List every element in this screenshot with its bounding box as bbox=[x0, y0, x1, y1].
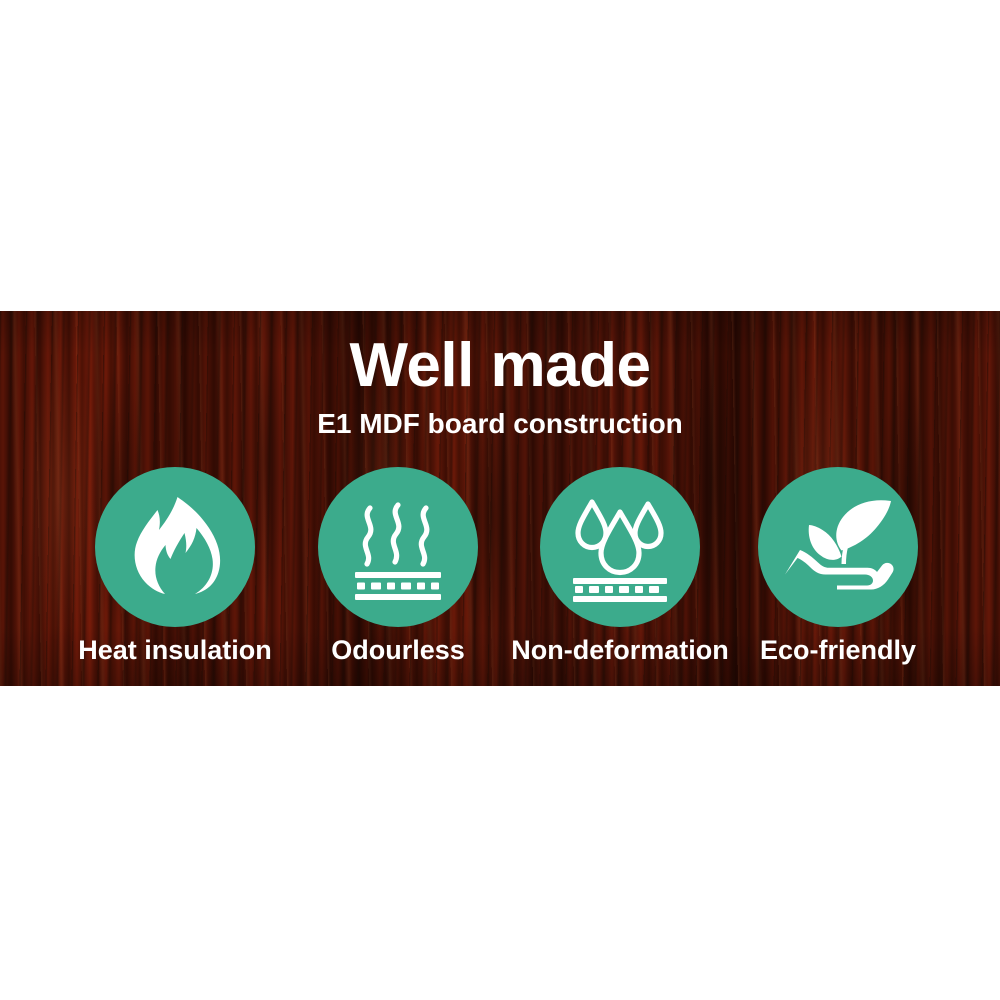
feature-label: Heat insulation bbox=[60, 636, 290, 666]
feature-item-odourless: Odourless bbox=[283, 467, 513, 666]
vapor-waves-over-layers-icon bbox=[343, 492, 453, 602]
water-droplets-over-layers-icon bbox=[565, 492, 675, 602]
banner-content: Well made E1 MDF board construction Heat… bbox=[0, 311, 1000, 686]
feature-list: Heat insulation bbox=[0, 467, 1000, 677]
feature-icon-circle bbox=[758, 467, 918, 627]
well-made-banner: Well made E1 MDF board construction Heat… bbox=[0, 311, 1000, 686]
feature-icon-circle bbox=[540, 467, 700, 627]
banner-title: Well made bbox=[0, 335, 1000, 397]
feature-item-eco-friendly: Eco-friendly bbox=[723, 467, 953, 666]
feature-label: Eco-friendly bbox=[723, 636, 953, 666]
feature-item-non-deformation: Non-deformation bbox=[505, 467, 735, 666]
feature-item-heat-insulation: Heat insulation bbox=[60, 467, 290, 666]
feature-icon-circle bbox=[95, 467, 255, 627]
banner-subtitle: E1 MDF board construction bbox=[0, 410, 1000, 438]
flame-icon bbox=[129, 495, 221, 599]
hand-holding-plant-icon bbox=[779, 495, 897, 599]
feature-label: Non-deformation bbox=[505, 636, 735, 666]
feature-icon-circle bbox=[318, 467, 478, 627]
feature-label: Odourless bbox=[283, 636, 513, 666]
